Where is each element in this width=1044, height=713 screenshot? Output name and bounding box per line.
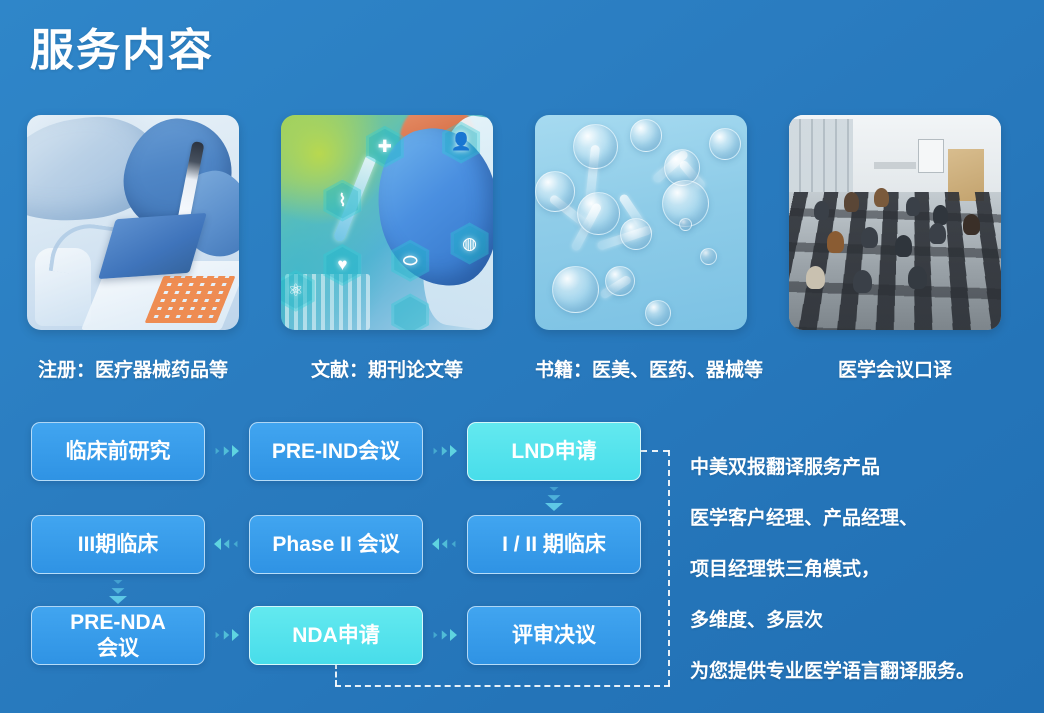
service-card-caption: 注册：医疗器械药品等 xyxy=(27,355,239,382)
service-card-caption: 医学会议口译 xyxy=(789,355,1001,382)
page-title: 服务内容 xyxy=(30,14,214,78)
hexagon-icon xyxy=(391,293,429,330)
flow-box-nda-application[interactable]: NDA申请 xyxy=(249,606,423,665)
flow-box-phase-iii-clinical[interactable]: III期临床 xyxy=(31,515,205,574)
arrow-left-row2-a xyxy=(214,538,239,550)
arrow-down-left-col xyxy=(109,578,127,604)
dashed-loop-left xyxy=(335,663,337,686)
dashed-loop-bottom xyxy=(335,685,670,687)
dashed-loop-right xyxy=(668,450,670,686)
service-card-caption: 书籍：医美、医药、器械等 xyxy=(535,355,747,382)
medical-icons-hand-photo: ✚ 👤 ⌇ ♥ ⬭ ◍ ⚛ xyxy=(281,115,493,330)
molecule-structure-photo xyxy=(535,115,747,330)
description-line: 多维度、多层次 xyxy=(690,605,1040,632)
arrow-right-row3-a xyxy=(214,629,239,641)
description-line: 医学客户经理、产品经理、 xyxy=(690,503,1040,530)
conference-room-photo xyxy=(789,115,1001,330)
arrow-right-row1-b xyxy=(432,445,457,457)
arrow-left-row2-b xyxy=(432,538,457,550)
arrow-down-right-col xyxy=(545,485,563,511)
arrow-right-row3-b xyxy=(432,629,457,641)
flow-box-lnd-application[interactable]: LND申请 xyxy=(467,422,641,481)
flow-box-phase-i-ii-clinical[interactable]: I / II 期临床 xyxy=(467,515,641,574)
flow-box-preclinical-research[interactable]: 临床前研究 xyxy=(31,422,205,481)
arrow-right-row1-a xyxy=(214,445,239,457)
service-card-caption: 文献：期刊论文等 xyxy=(281,355,493,382)
service-card-conference[interactable]: 医学会议口译 xyxy=(789,115,1001,330)
dashed-loop-top xyxy=(641,450,669,452)
description-line: 项目经理铁三角模式， xyxy=(690,554,1040,581)
service-card-literature[interactable]: ✚ 👤 ⌇ ♥ ⬭ ◍ ⚛ 文献：期刊论文等 xyxy=(281,115,493,330)
service-cards-row: 注册：医疗器械药品等 ✚ 👤 ⌇ ♥ ⬭ ◍ ⚛ 文献：期刊论文等 xyxy=(0,115,1044,390)
flow-box-pre-ind-meeting[interactable]: PRE-IND会议 xyxy=(249,422,423,481)
flow-box-review-decision[interactable]: 评审决议 xyxy=(467,606,641,665)
lab-pipetting-photo xyxy=(27,115,239,330)
service-card-registration[interactable]: 注册：医疗器械药品等 xyxy=(27,115,239,330)
service-description: 中美双报翻译服务产品 医学客户经理、产品经理、 项目经理铁三角模式， 多维度、多… xyxy=(690,452,1040,683)
description-line: 中美双报翻译服务产品 xyxy=(690,452,1040,479)
description-line: 为您提供专业医学语言翻译服务。 xyxy=(690,656,1040,683)
service-card-books[interactable]: 书籍：医美、医药、器械等 xyxy=(535,115,747,330)
flow-box-pre-nda-meeting[interactable]: PRE-NDA 会议 xyxy=(31,606,205,665)
flow-box-phase-ii-meeting[interactable]: Phase II 会议 xyxy=(249,515,423,574)
